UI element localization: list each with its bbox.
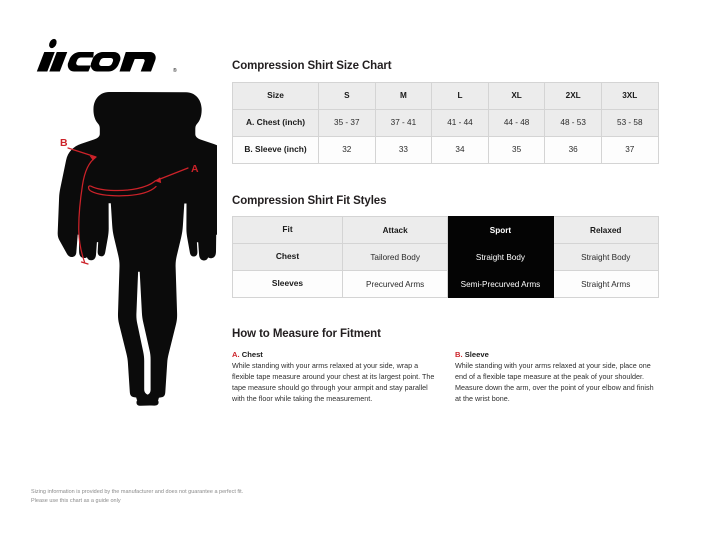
cell-sleeve-l: 34 xyxy=(432,136,489,163)
how-to-label-chest: A. Chest xyxy=(232,350,438,359)
how-to-measure-chest: A. Chest While standing with your arms r… xyxy=(232,350,438,405)
icon-wordmark-icon: ® xyxy=(30,27,180,77)
cell-chest-m: 37 - 41 xyxy=(375,109,432,136)
how-to-name-chest: Chest xyxy=(242,350,263,359)
cell-chest-3xl: 53 - 58 xyxy=(601,109,658,136)
column-header-s: S xyxy=(319,82,376,109)
column-header-size: Size xyxy=(233,82,319,109)
how-to-measure-sleeve: B. Sleeve While standing with your arms … xyxy=(455,350,661,405)
cell-sleeve-3xl: 37 xyxy=(601,136,658,163)
table-row: B. Sleeve (inch) 32 33 34 35 36 37 xyxy=(233,136,659,163)
cell-sleeve-2xl: 36 xyxy=(545,136,602,163)
cell-sleeve-m: 33 xyxy=(375,136,432,163)
row-header-sleeves-fit: Sleeves xyxy=(233,271,343,298)
table-row: Sleeves Precurved Arms Semi-Precurved Ar… xyxy=(233,271,659,298)
row-header-chest: A. Chest (inch) xyxy=(233,109,319,136)
row-header-chest-fit: Chest xyxy=(233,244,343,271)
column-header-sport: Sport xyxy=(448,217,553,244)
marker-label-a: A xyxy=(191,163,199,175)
footer-line-1: Sizing information is provided by the ma… xyxy=(31,488,331,497)
body-silhouette-figure: B A xyxy=(42,84,217,474)
cell-sleeves-relaxed: Straight Arms xyxy=(553,271,658,298)
cell-chest-sport: Straight Body xyxy=(448,244,553,271)
marker-a-text: A. xyxy=(232,350,240,359)
column-header-fit: Fit xyxy=(233,217,343,244)
fit-styles-table: Fit Attack Sport Relaxed Chest Tailored … xyxy=(232,216,659,298)
cell-chest-attack: Tailored Body xyxy=(343,244,448,271)
body-silhouette-icon: B A xyxy=(42,84,217,474)
marker-label-b: B xyxy=(60,137,68,149)
column-header-attack: Attack xyxy=(343,217,448,244)
column-header-2xl: 2XL xyxy=(545,82,602,109)
cell-sleeves-attack: Precurved Arms xyxy=(343,271,448,298)
size-chart-title: Compression Shirt Size Chart xyxy=(232,60,662,73)
marker-b-text: B. xyxy=(455,350,463,359)
cell-chest-2xl: 48 - 53 xyxy=(545,109,602,136)
fit-styles-title: Compression Shirt Fit Styles xyxy=(232,195,662,208)
size-chart-table: Size S M L XL 2XL 3XL A. Chest (inch) 35… xyxy=(232,82,659,164)
table-row-header: Size S M L XL 2XL 3XL xyxy=(233,82,659,109)
how-to-body-sleeve: While standing with your arms relaxed at… xyxy=(455,361,661,405)
cell-sleeve-xl: 35 xyxy=(488,136,545,163)
how-to-measure-title: How to Measure for Fitment xyxy=(232,328,662,341)
footer-line-2: Please use this chart as a guide only xyxy=(31,497,331,506)
how-to-body-chest: While standing with your arms relaxed at… xyxy=(232,361,438,405)
brand-logo: ® xyxy=(30,27,180,77)
how-to-label-sleeve: B. Sleeve xyxy=(455,350,661,359)
cell-sleeves-sport: Semi-Precurved Arms xyxy=(448,271,553,298)
table-row-header: Fit Attack Sport Relaxed xyxy=(233,217,659,244)
registered-trademark-icon: ® xyxy=(173,67,177,74)
row-header-sleeve: B. Sleeve (inch) xyxy=(233,136,319,163)
section-spacer xyxy=(232,164,662,195)
footer-disclaimer: Sizing information is provided by the ma… xyxy=(31,488,331,506)
column-header-l: L xyxy=(432,82,489,109)
silhouette-body xyxy=(58,92,217,406)
cell-chest-l: 41 - 44 xyxy=(432,109,489,136)
cell-sleeve-s: 32 xyxy=(319,136,376,163)
column-header-m: M xyxy=(375,82,432,109)
column-header-xl: XL xyxy=(488,82,545,109)
section-spacer xyxy=(232,298,662,328)
content-column: Compression Shirt Size Chart Size S M L … xyxy=(232,60,662,405)
column-header-3xl: 3XL xyxy=(601,82,658,109)
how-to-name-sleeve: Sleeve xyxy=(465,350,489,359)
table-row: Chest Tailored Body Straight Body Straig… xyxy=(233,244,659,271)
cell-chest-xl: 44 - 48 xyxy=(488,109,545,136)
cell-chest-s: 35 - 37 xyxy=(319,109,376,136)
table-row: A. Chest (inch) 35 - 37 37 - 41 41 - 44 … xyxy=(233,109,659,136)
column-header-relaxed: Relaxed xyxy=(553,217,658,244)
cell-chest-relaxed: Straight Body xyxy=(553,244,658,271)
how-to-measure-columns: A. Chest While standing with your arms r… xyxy=(232,350,662,405)
